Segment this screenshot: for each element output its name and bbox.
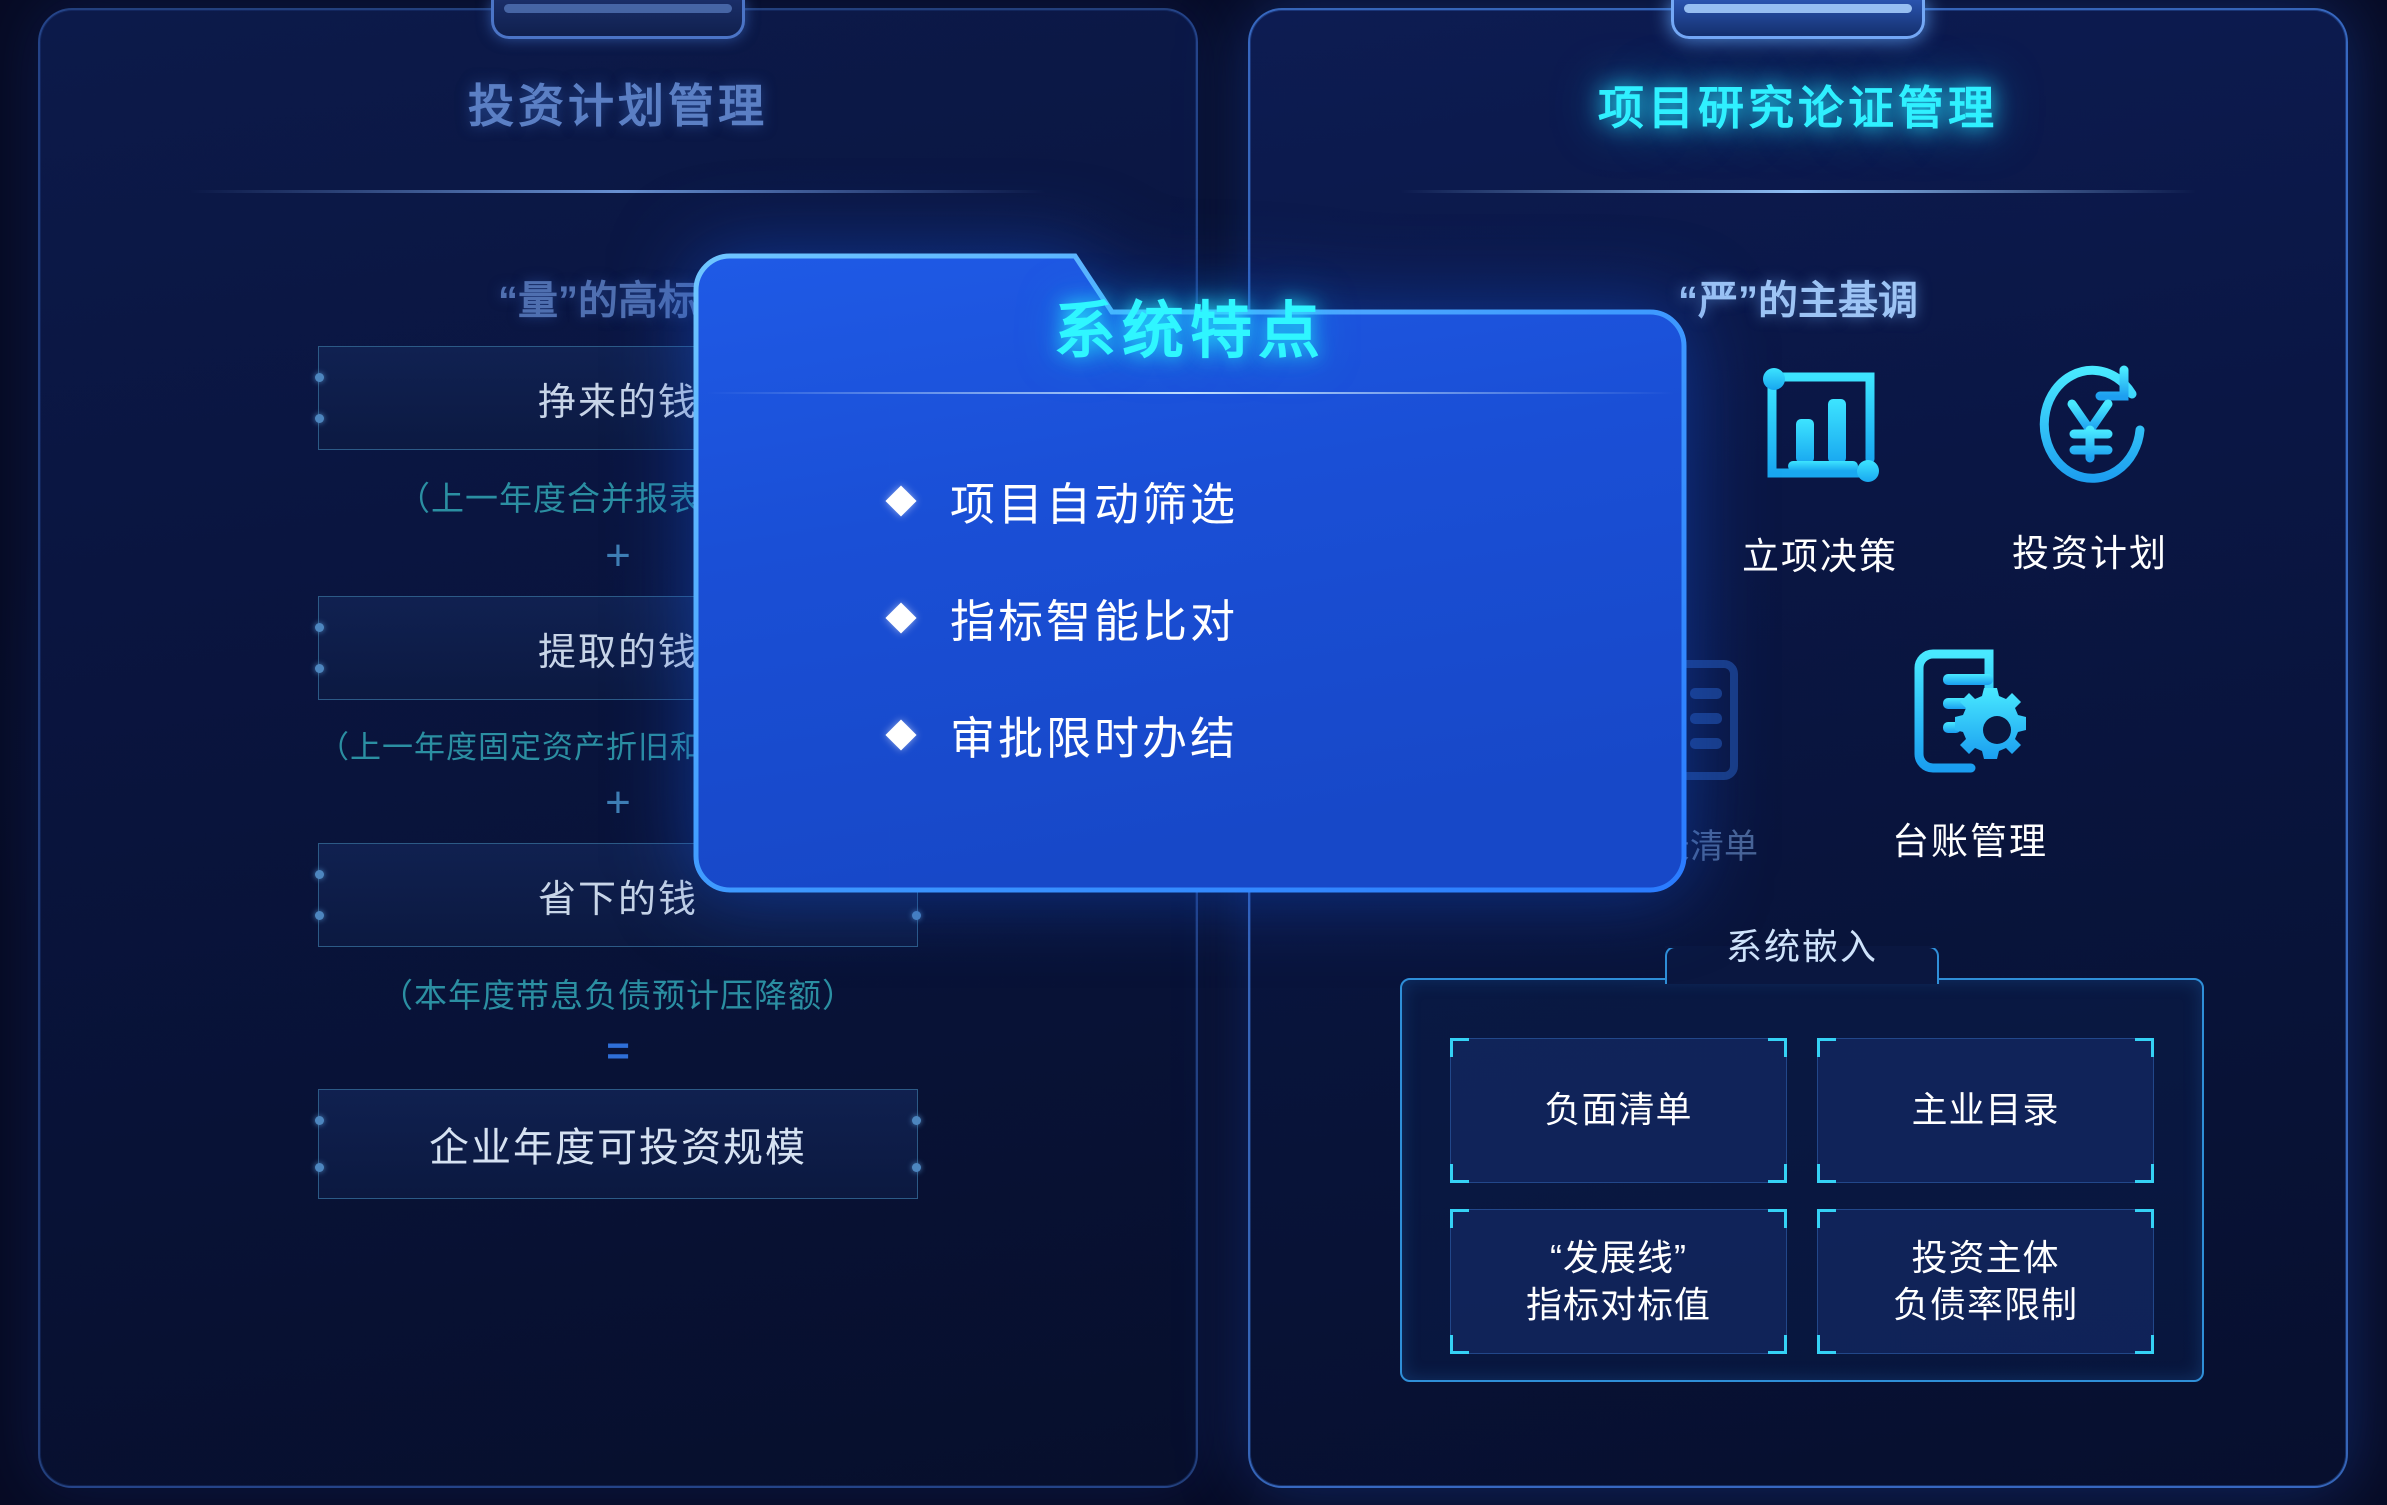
slide-canvas: 投资计划管理 “量”的高标准 挣来的钱 （上一年度合并报表净利润） + 提取的钱…: [0, 0, 2387, 1505]
embed-cell-investor-debt-ratio-limit[interactable]: 投资主体 负债率限制: [1817, 1209, 2154, 1354]
bullet-label: 审批限时办结: [950, 702, 1238, 767]
document-gear-icon: [1895, 640, 2045, 790]
node-dot-icon: [315, 870, 324, 879]
bullet-item-time-limited-approval[interactable]: 审批限时办结: [890, 702, 1238, 767]
flow-box-result[interactable]: 企业年度可投资规模: [318, 1089, 918, 1199]
flow-box-label: 企业年度可投资规模: [429, 1115, 807, 1173]
icon-tile-label: 立项决策: [1690, 526, 1950, 580]
icon-tile-investment-plan[interactable]: 投资计划: [1960, 352, 2220, 577]
folder-card-title: 系统特点: [660, 280, 1720, 370]
node-dot-icon: [315, 911, 324, 920]
icon-tile-project-decision[interactable]: 立项决策: [1690, 355, 1950, 580]
bullet-label: 项目自动筛选: [950, 468, 1238, 533]
icon-tile-label: 台账管理: [1840, 811, 2100, 865]
right-panel-title: 项目研究论证管理: [1250, 72, 2346, 138]
embed-cell-label-line1: 投资主体: [1893, 1235, 2078, 1281]
embed-cell-label: 负面清单: [1544, 1087, 1692, 1133]
bullet-item-auto-screening[interactable]: 项目自动筛选: [890, 468, 1238, 533]
diamond-bullet-icon: [885, 485, 916, 516]
node-dot-icon: [315, 414, 324, 423]
folder-card-divider: [706, 392, 1674, 394]
diamond-bullet-icon: [885, 719, 916, 750]
left-panel-title: 投资计划管理: [40, 70, 1196, 136]
folder-card-bullet-list: 项目自动筛选 指标智能比对 审批限时办结: [890, 468, 1238, 819]
diamond-bullet-icon: [885, 602, 916, 633]
right-title-divider: [1400, 190, 2196, 193]
node-dot-icon: [315, 373, 324, 382]
right-panel-notch: [1671, 0, 1925, 39]
bullet-label: 指标智能比对: [950, 585, 1238, 650]
node-dot-icon: [912, 1163, 921, 1172]
embed-cell-development-line-benchmark[interactable]: “发展线” 指标对标值: [1450, 1209, 1787, 1354]
yuan-refresh-icon: [2020, 352, 2160, 502]
bullet-item-indicator-compare[interactable]: 指标智能比对: [890, 585, 1238, 650]
node-dot-icon: [315, 1163, 324, 1172]
embed-cell-label-line1: “发展线”: [1526, 1235, 1711, 1281]
icon-tile-ledger-management[interactable]: 台账管理: [1840, 640, 2100, 865]
flow-operator-equals: =: [318, 1031, 918, 1071]
node-dot-icon: [912, 1116, 921, 1125]
left-title-divider: [190, 190, 1046, 193]
icon-tile-label: 投资计划: [1960, 523, 2220, 577]
node-dot-icon: [315, 1116, 324, 1125]
node-dot-icon: [315, 664, 324, 673]
embed-cell-label-line2: 负债率限制: [1893, 1282, 2078, 1328]
system-features-folder-card[interactable]: 系统特点 项目自动筛选 指标智能比对 审批限时办结: [660, 216, 1720, 928]
embed-cell-label-line2: 指标对标值: [1526, 1282, 1711, 1328]
embed-cell-negative-list[interactable]: 负面清单: [1450, 1038, 1787, 1183]
embed-cell-main-business-catalog[interactable]: 主业目录: [1817, 1038, 2154, 1183]
bar-chart-icon: [1750, 355, 1890, 505]
flow-note-saved: （本年度带息负债预计压降额）: [318, 969, 918, 1017]
system-embed-box: 系统嵌入 负面清单 主业目录 “发展线” 指标对标值: [1400, 978, 2204, 1382]
node-dot-icon: [315, 623, 324, 632]
system-embed-grid: 负面清单 主业目录 “发展线” 指标对标值 投资主体: [1450, 1038, 2154, 1354]
left-panel-notch: [491, 0, 745, 39]
embed-cell-label: 主业目录: [1911, 1087, 2059, 1133]
